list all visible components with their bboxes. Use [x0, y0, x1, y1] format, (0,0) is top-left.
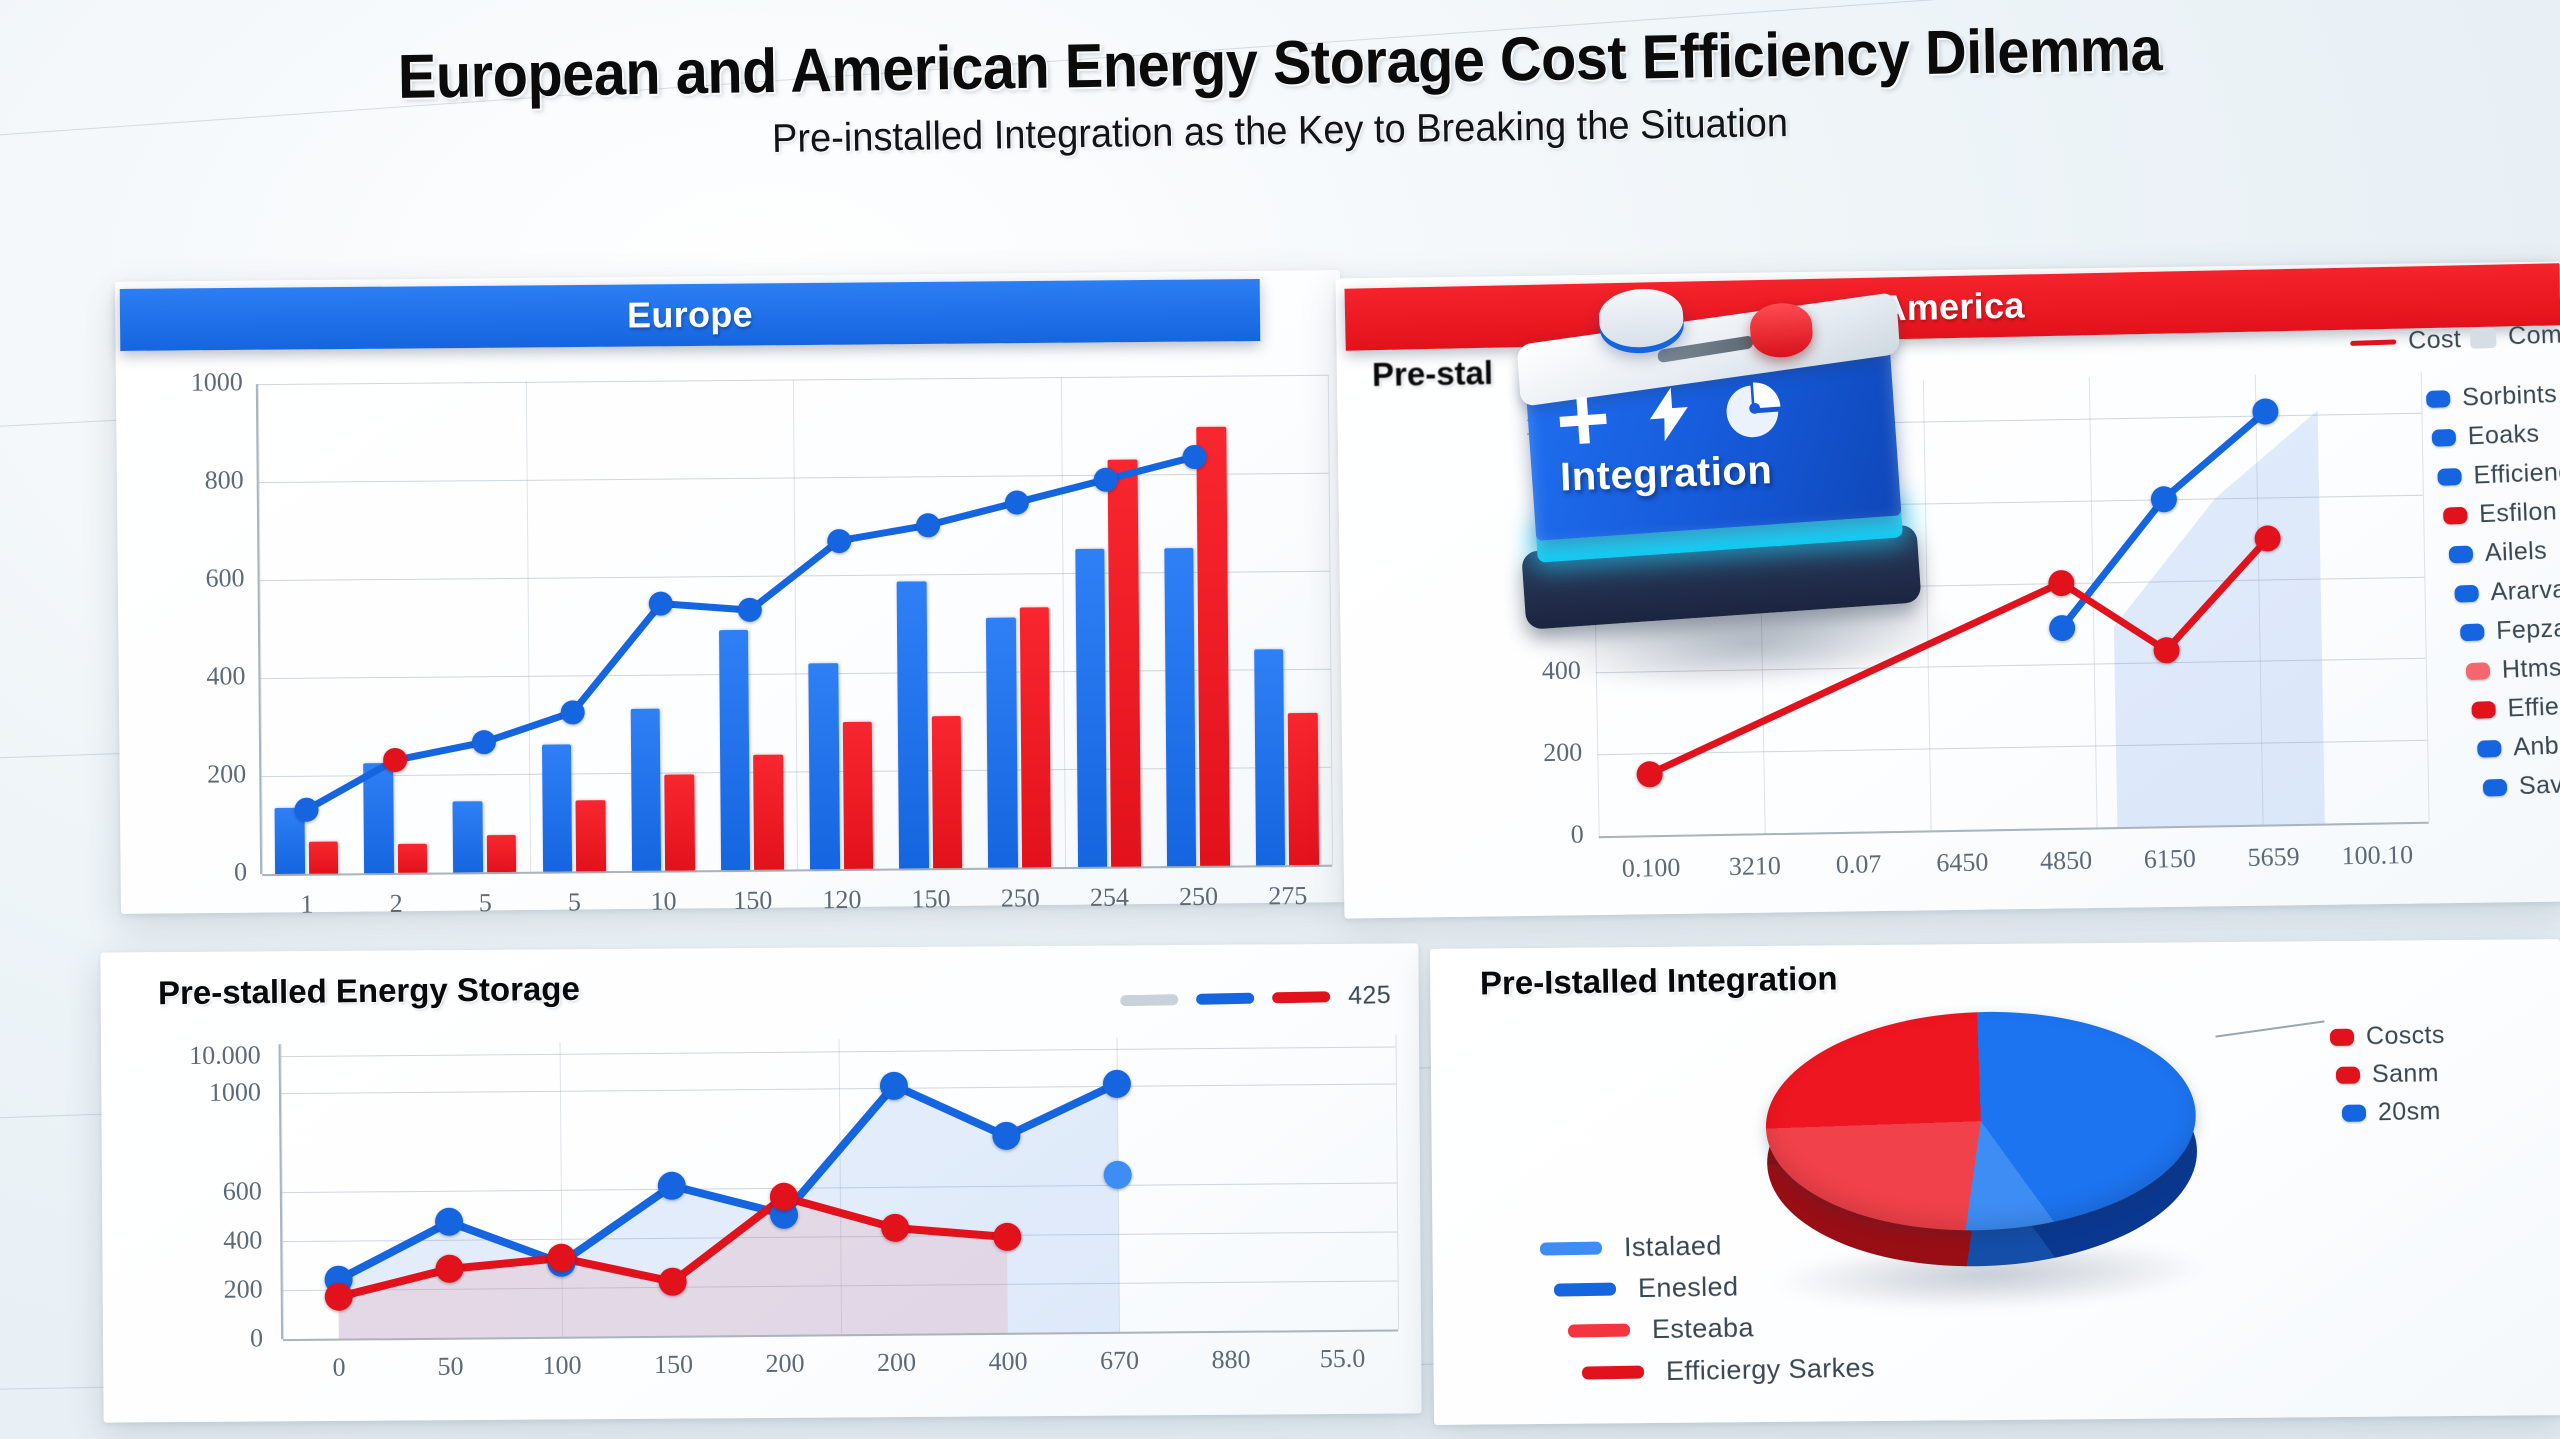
plus-icon	[1550, 387, 1616, 453]
infographic-page: European and American Energy Storage Cos…	[0, 0, 2560, 1439]
legend-label: Istalaed	[1624, 1230, 1722, 1263]
integration-legend-item-2: 20sm	[2342, 1097, 2441, 1128]
lightning-bolt-icon	[1637, 375, 1700, 453]
legend-dot-swatch	[2336, 1066, 2360, 1083]
storage-legend-item-2: Esteaba	[1568, 1312, 1754, 1346]
legend-label: Sanm	[2372, 1059, 2439, 1089]
legend-label: Efficiergy Sarkes	[1666, 1352, 1875, 1387]
storage-legend-item-3: Efficiergy Sarkes	[1582, 1352, 1875, 1388]
storage-legend-item-1: Enesled	[1554, 1271, 1739, 1305]
legend-dot-swatch	[2330, 1029, 2354, 1046]
dynamic-chart-layer	[0, 0, 2560, 1439]
integration-legend-item-0: Coscts	[2330, 1021, 2445, 1052]
legend-bar-swatch	[1554, 1283, 1616, 1297]
legend-label: Coscts	[2366, 1021, 2445, 1051]
legend-bar-swatch	[1582, 1365, 1644, 1379]
storage-legend-item-0: Istalaed	[1540, 1230, 1722, 1264]
legend-label: Esteaba	[1652, 1312, 1754, 1345]
battery-3d-graphic: Integration	[1487, 285, 1954, 715]
legend-dot-swatch	[2342, 1104, 2366, 1121]
legend-label: 20sm	[2378, 1097, 2441, 1127]
legend-bar-swatch	[1540, 1242, 1602, 1256]
integration-legend-item-1: Sanm	[2336, 1059, 2439, 1090]
pie-chart-icon	[1722, 375, 1788, 441]
legend-bar-swatch	[1568, 1324, 1630, 1338]
legend-label: Enesled	[1638, 1271, 1739, 1304]
